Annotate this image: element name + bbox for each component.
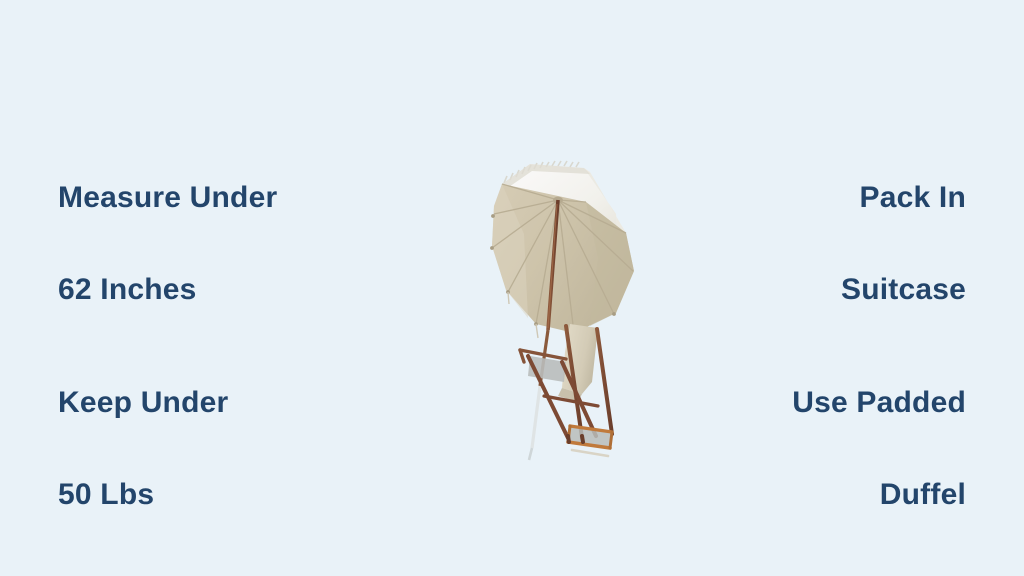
tip-duffel-line1: Use Padded xyxy=(792,380,966,426)
tip-pack-line1: Pack In xyxy=(841,175,966,221)
tip-use-padded-duffel: Use Padded Duffel xyxy=(792,334,966,564)
infographic-canvas: Measure Under 62 Inches Pack In Suitcase… xyxy=(0,0,1024,576)
umbrella-group xyxy=(490,161,634,348)
tip-measure-under: Measure Under 62 Inches xyxy=(58,129,277,359)
tip-keep-under-weight: Keep Under 50 Lbs xyxy=(58,334,228,564)
tip-measure-line2: 62 Inches xyxy=(58,267,277,313)
tip-weight-line2: 50 Lbs xyxy=(58,472,228,518)
tip-pack-in-suitcase: Pack In Suitcase xyxy=(841,129,966,359)
beach-umbrella-chair-illustration xyxy=(466,138,674,468)
tip-pack-line2: Suitcase xyxy=(841,267,966,313)
tip-duffel-line2: Duffel xyxy=(792,472,966,518)
tip-weight-line1: Keep Under xyxy=(58,380,228,426)
chair-footrest xyxy=(568,426,612,456)
tip-measure-line1: Measure Under xyxy=(58,175,277,221)
